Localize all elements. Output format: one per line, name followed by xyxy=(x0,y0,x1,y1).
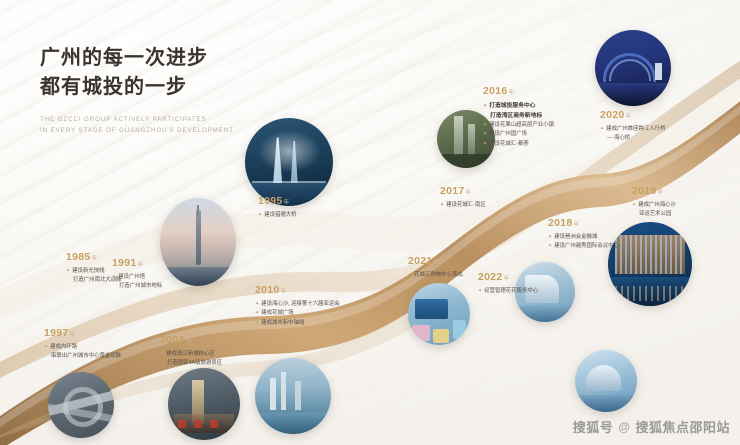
milestone-item: ✦建设琶洲会金融城 xyxy=(548,233,619,242)
milestone-item: 串联出广州城市中心黄金动脉 xyxy=(44,352,121,361)
milestone-2020: 2020年 ✦建成广州首座跨江人行桥 — 海心桥 xyxy=(600,110,666,144)
photo-art-park xyxy=(575,350,637,412)
milestone-year: 2017年 xyxy=(440,186,486,197)
milestone-item: 打造国家4A级旅游景区 xyxy=(160,359,222,368)
milestone-2021: 2021年 ✦花城汇购物中心落成 xyxy=(408,256,463,280)
photo-canton-tower xyxy=(160,198,236,286)
milestone-year: 1995年 xyxy=(258,196,297,207)
milestone-item: ✦建成内环路 xyxy=(44,343,121,352)
milestone-2022: 2022年 ✦经营管理花花服务中心 xyxy=(478,272,538,296)
milestone-year: 2020年 xyxy=(600,110,666,121)
milestone-item: ✦打造城投服务中心 xyxy=(483,101,554,111)
milestone-item: ✦建成广州首座跨江人行桥 xyxy=(600,125,666,134)
page-title: 广州的每一次进步 都有城投的一步 xyxy=(40,44,300,102)
milestone-item: — 海心桥 xyxy=(600,134,666,143)
milestone-2016: 2016年 ✦打造城投服务中心 打造湾区商务新地标 ✦建设花果山超高层产业小镇 … xyxy=(483,86,554,149)
milestone-year: 2003年 xyxy=(160,335,222,346)
milestone-2018: 2018年 ✦建设琶洲会金融城 ✦建设广州越秀国际会议中心 xyxy=(548,218,619,252)
milestone-item: ✦花城汇购物中心落成 xyxy=(408,271,463,280)
milestone-year: 1997年 xyxy=(44,328,121,339)
watermark: 搜狐号 @ 搜狐焦点邵阳站 xyxy=(573,417,730,436)
milestone-item: ✦建设花城汇·都荟 xyxy=(483,140,554,149)
milestone-item: ✦建设猎德大桥 xyxy=(258,211,297,220)
milestone-1995: 1995年 ✦建设猎德大桥 xyxy=(258,196,297,220)
milestone-year: 2019年 xyxy=(632,186,676,197)
milestone-item: 打造广州城市地标 xyxy=(112,282,162,291)
milestone-item: 打造湾区商务新地标 xyxy=(483,111,554,121)
milestone-item: ✦建设花果山超高层产业小镇 xyxy=(483,121,554,130)
milestone-item: ✦建设广州越秀国际会议中心 xyxy=(548,242,619,251)
milestone-item: ✦建设广州国广场 xyxy=(483,130,554,139)
milestone-year: 2016年 xyxy=(483,86,554,97)
milestone-year: 2018年 xyxy=(548,218,619,229)
milestone-item: ✦建设海心沙, 迎接第十六届亚运会 xyxy=(255,300,340,309)
milestone-2003: 2003年 ✦建成珠江新城核心区 打造国家4A级旅游景区 xyxy=(160,335,222,369)
headline-line-2: 都有城投的一步 xyxy=(40,76,187,98)
milestone-item: ✦建设广州塔 xyxy=(112,273,162,282)
photo-flower-city-mall xyxy=(408,283,470,345)
photo-liede-bridge xyxy=(245,118,333,206)
milestone-1997: 1997年 ✦建成内环路 串联出广州城市中心黄金动脉 xyxy=(44,328,121,362)
milestone-item: ✦建成珠江新城核心区 xyxy=(160,350,222,359)
milestone-year: 2021年 xyxy=(408,256,463,267)
headline-line-1: 广州的每一次进步 xyxy=(40,47,208,69)
milestone-item: ✦建成花城广场 xyxy=(255,309,340,318)
milestone-year: 2010年 xyxy=(255,285,340,296)
milestone-item: 亚运艺术公园 xyxy=(632,210,676,219)
milestone-2019: 2019年 ✦建成广州海心沙 亚运艺术公园 xyxy=(632,186,676,220)
milestone-year: 1991年 xyxy=(112,258,162,269)
photo-yuexiu-building xyxy=(608,222,692,306)
milestone-item: ✦建设花城汇·南区 xyxy=(440,201,486,210)
milestone-year: 2022年 xyxy=(478,272,538,283)
watermark-account: 搜狐焦点邵阳站 xyxy=(635,417,730,436)
milestone-1991: 1991年 ✦建设广州塔 打造广州城市地标 xyxy=(112,258,162,292)
milestone-2010: 2010年 ✦建设海心沙, 迎接第十六届亚运会 ✦建成花城广场 ✦建成城市新中轴… xyxy=(255,285,340,328)
watermark-at-icon: @ xyxy=(618,420,630,434)
milestone-item: ✦建成广州海心沙 xyxy=(632,201,676,210)
milestone-item: ✦建成城市新中轴线 xyxy=(255,319,340,328)
watermark-prefix: 搜狐号 xyxy=(573,417,614,436)
milestone-item: ✦经营管理花花服务中心 xyxy=(478,287,538,296)
milestone-2017: 2017年 ✦建设花城汇·南区 xyxy=(440,186,486,210)
photo-haixin-bridge xyxy=(595,30,671,106)
poster-canvas: 广州的每一次进步 都有城投的一步 THE GZCCI GROUP ACTIVEL… xyxy=(0,0,740,445)
